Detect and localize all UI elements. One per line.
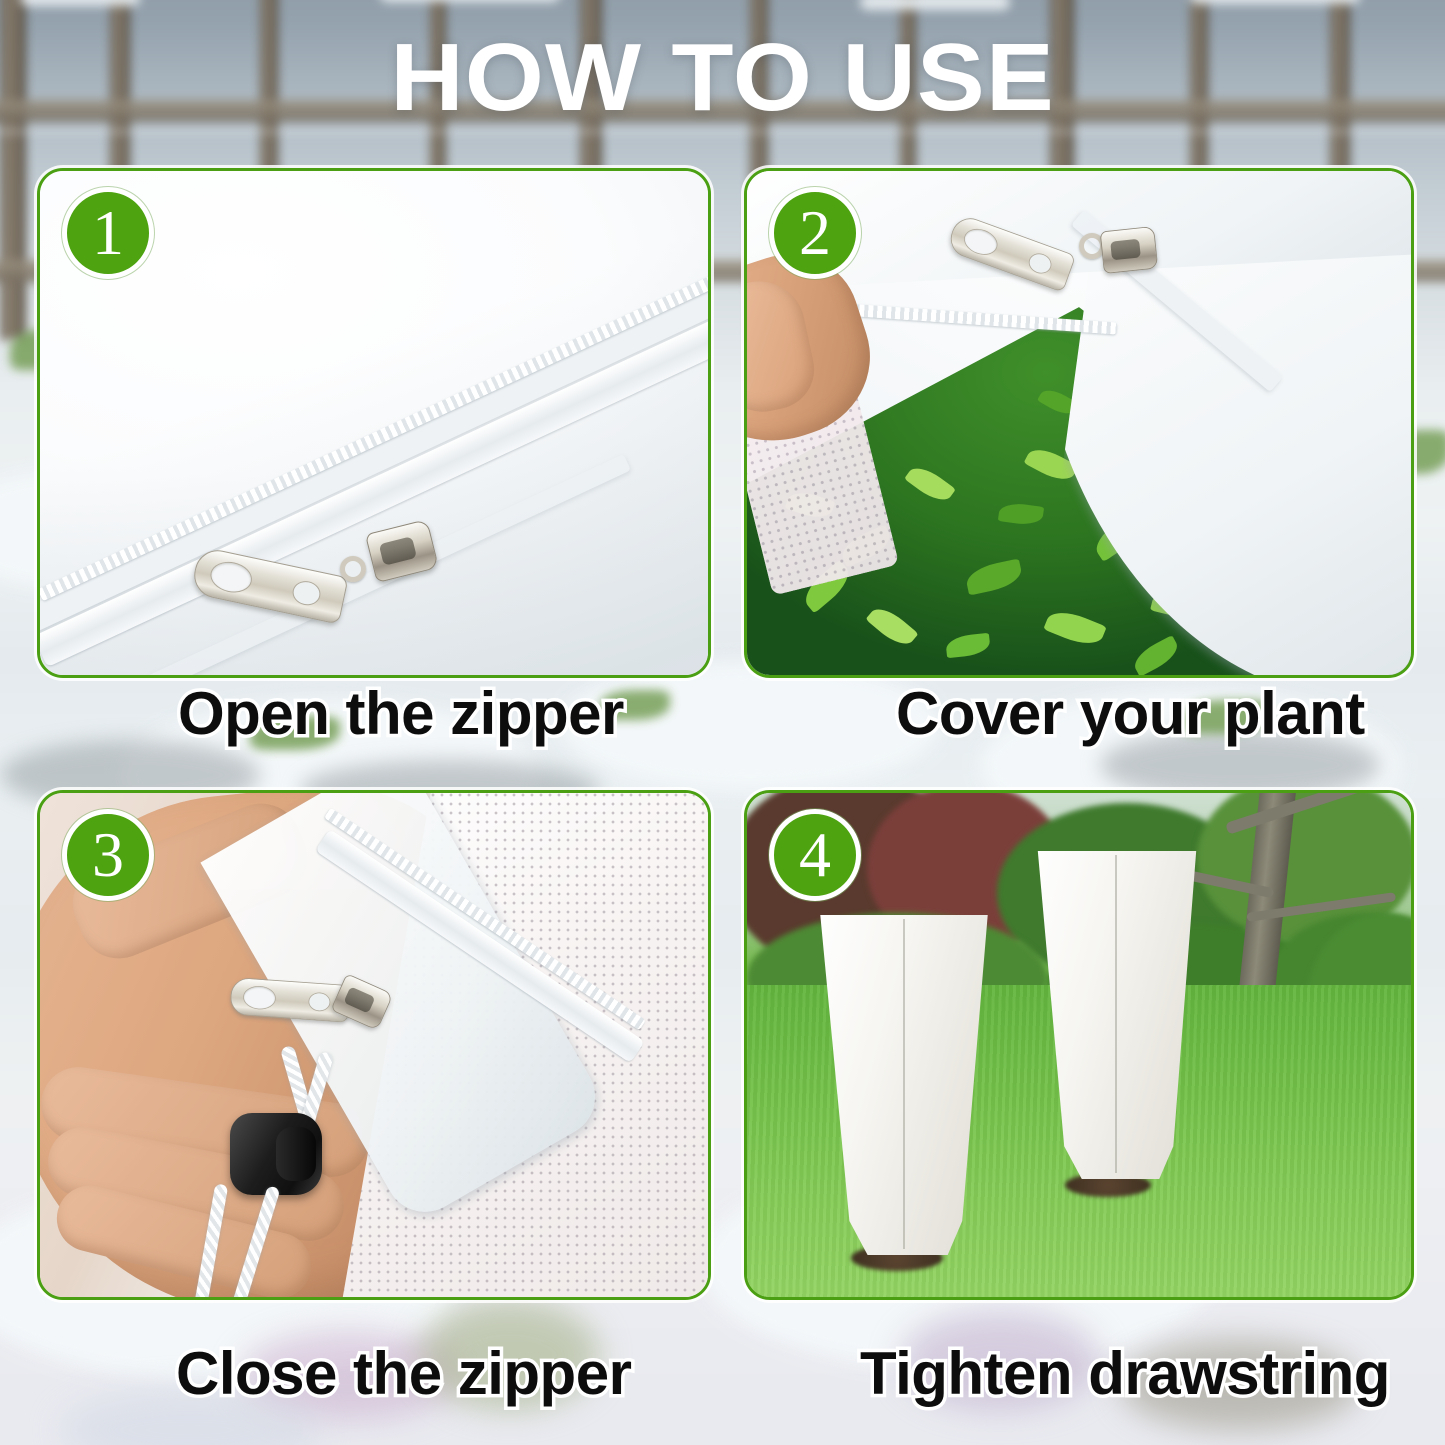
zipper-slider-channel: [379, 536, 417, 566]
zipper-slider-channel-2: [1110, 239, 1141, 261]
cord-lock-cap: [276, 1127, 316, 1181]
step-badge-1: 1: [62, 187, 154, 279]
zipper-ring: [340, 556, 366, 582]
plant-cover-1-seam: [903, 919, 905, 1249]
plant-cover-2-seam: [1115, 855, 1117, 1173]
zipper-slider-channel-3: [343, 986, 375, 1013]
cord-lock-toggle: [230, 1113, 322, 1195]
step-badge-2: 2: [769, 187, 861, 279]
step-caption-4: Tighten drawstring: [860, 1344, 1390, 1404]
zipper-slider-2: [1100, 226, 1159, 274]
step-badge-3: 3: [62, 809, 154, 901]
step-card-3[interactable]: 3: [37, 790, 711, 1300]
infographic-canvas: HOW TO USE 1: [0, 0, 1445, 1445]
page-title: HOW TO USE: [0, 30, 1445, 126]
step-card-4[interactable]: 4: [744, 790, 1414, 1300]
step-caption-2: Cover your plant: [896, 684, 1365, 744]
step-badge-4: 4: [769, 809, 861, 901]
step-card-2[interactable]: 2: [744, 168, 1414, 678]
step-caption-3: Close the zipper: [176, 1344, 631, 1404]
step-card-1[interactable]: 1: [37, 168, 711, 678]
step-caption-1: Open the zipper: [178, 684, 624, 744]
